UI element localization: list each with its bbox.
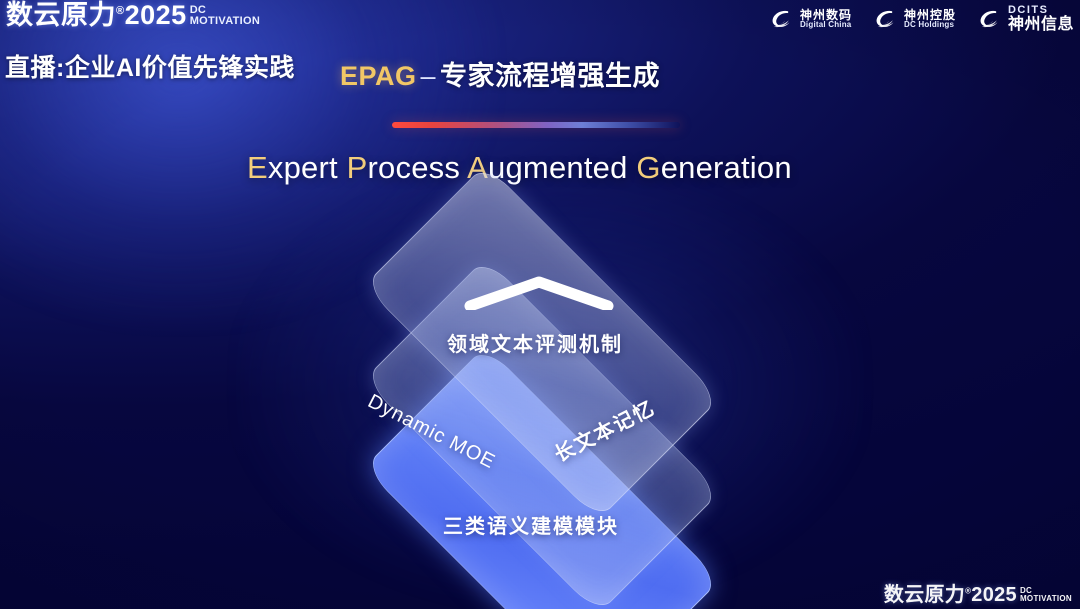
brand-logo-registered: ® <box>116 5 125 17</box>
live-stream-title: 直播:企业AI价值先锋实践 <box>5 48 295 84</box>
subtitle-cap-g: G <box>636 150 660 185</box>
partner-logo-group: 神州数码 Digital China 神州控股 DC Holdings DCIT… <box>768 5 1074 33</box>
watermark-year: 2025 <box>971 584 1017 606</box>
subtitle-word-expert: Expert <box>247 150 338 185</box>
partner-logo-text: DCITS 神州信息 <box>1008 5 1074 33</box>
brand-logo-sub: DC MOTIVATION <box>190 2 260 27</box>
partner-logo-text: 神州数码 Digital China <box>800 9 852 30</box>
partner-logo-text: 神州控股 DC Holdings <box>904 9 956 30</box>
partner-logo-dcits: DCITS 神州信息 <box>976 5 1074 33</box>
stack-label-bottom: 三类语义建模模块 <box>443 510 619 539</box>
stack-label-top: 领域文本评测机制 <box>447 328 623 357</box>
watermark-sub-line2: MOTIVATION <box>1020 595 1072 603</box>
page-subtitle: Expert Process Augmented Generation <box>247 150 792 186</box>
partner-logo-en: DCITS <box>1008 5 1074 17</box>
brand-logo-name: 数云原力 <box>6 0 116 30</box>
partner-logo-en: Digital China <box>800 21 852 29</box>
brand-logo-main: 数云原力®2025 <box>6 2 187 29</box>
swirl-logo-icon <box>976 6 1002 32</box>
brand-logo-year: 2025 <box>125 0 187 30</box>
swirl-logo-icon <box>768 6 794 32</box>
brand-logo-sub-line2: MOTIVATION <box>190 16 260 27</box>
subtitle-rest-expert: xpert <box>268 150 338 185</box>
page-title: EPAG–专家流程增强生成 <box>340 54 660 93</box>
subtitle-rest-generation: eneration <box>661 150 792 185</box>
chevron-up-icon <box>464 276 614 310</box>
watermark-logo: 数云原力®2025 DC MOTIVATION <box>884 585 1072 605</box>
title-divider <box>392 122 680 128</box>
subtitle-word-process: Process <box>347 150 460 185</box>
partner-logo-en: DC Holdings <box>904 21 956 29</box>
partner-logo-dc-holdings: 神州控股 DC Holdings <box>872 6 956 32</box>
subtitle-cap-e: E <box>247 150 268 185</box>
subtitle-rest-process: rocess <box>368 150 461 185</box>
page-title-chinese: 专家流程增强生成 <box>440 61 660 91</box>
slide-canvas: 数云原力®2025 DC MOTIVATION 直播:企业AI价值先锋实践 神州… <box>0 0 1080 609</box>
subtitle-rest-augmented: ugmented <box>488 150 627 185</box>
layered-architecture-diagram: 领域文本评测机制 Dynamic MOE 长文本记忆 三类语义建模模块 <box>296 228 786 558</box>
brand-logo: 数云原力®2025 DC MOTIVATION <box>6 2 260 29</box>
page-title-acronym: EPAG <box>340 61 417 91</box>
watermark-sub: DC MOTIVATION <box>1020 585 1072 603</box>
subtitle-cap-p: P <box>347 150 368 185</box>
partner-logo-digital-china: 神州数码 Digital China <box>768 6 852 32</box>
watermark-name: 数云原力 <box>884 584 965 606</box>
swirl-logo-icon <box>872 6 898 32</box>
partner-logo-cn: 神州信息 <box>1008 17 1074 34</box>
subtitle-word-generation: Generation <box>636 150 791 185</box>
page-title-dash: – <box>417 61 441 91</box>
watermark-main: 数云原力®2025 <box>884 585 1017 605</box>
